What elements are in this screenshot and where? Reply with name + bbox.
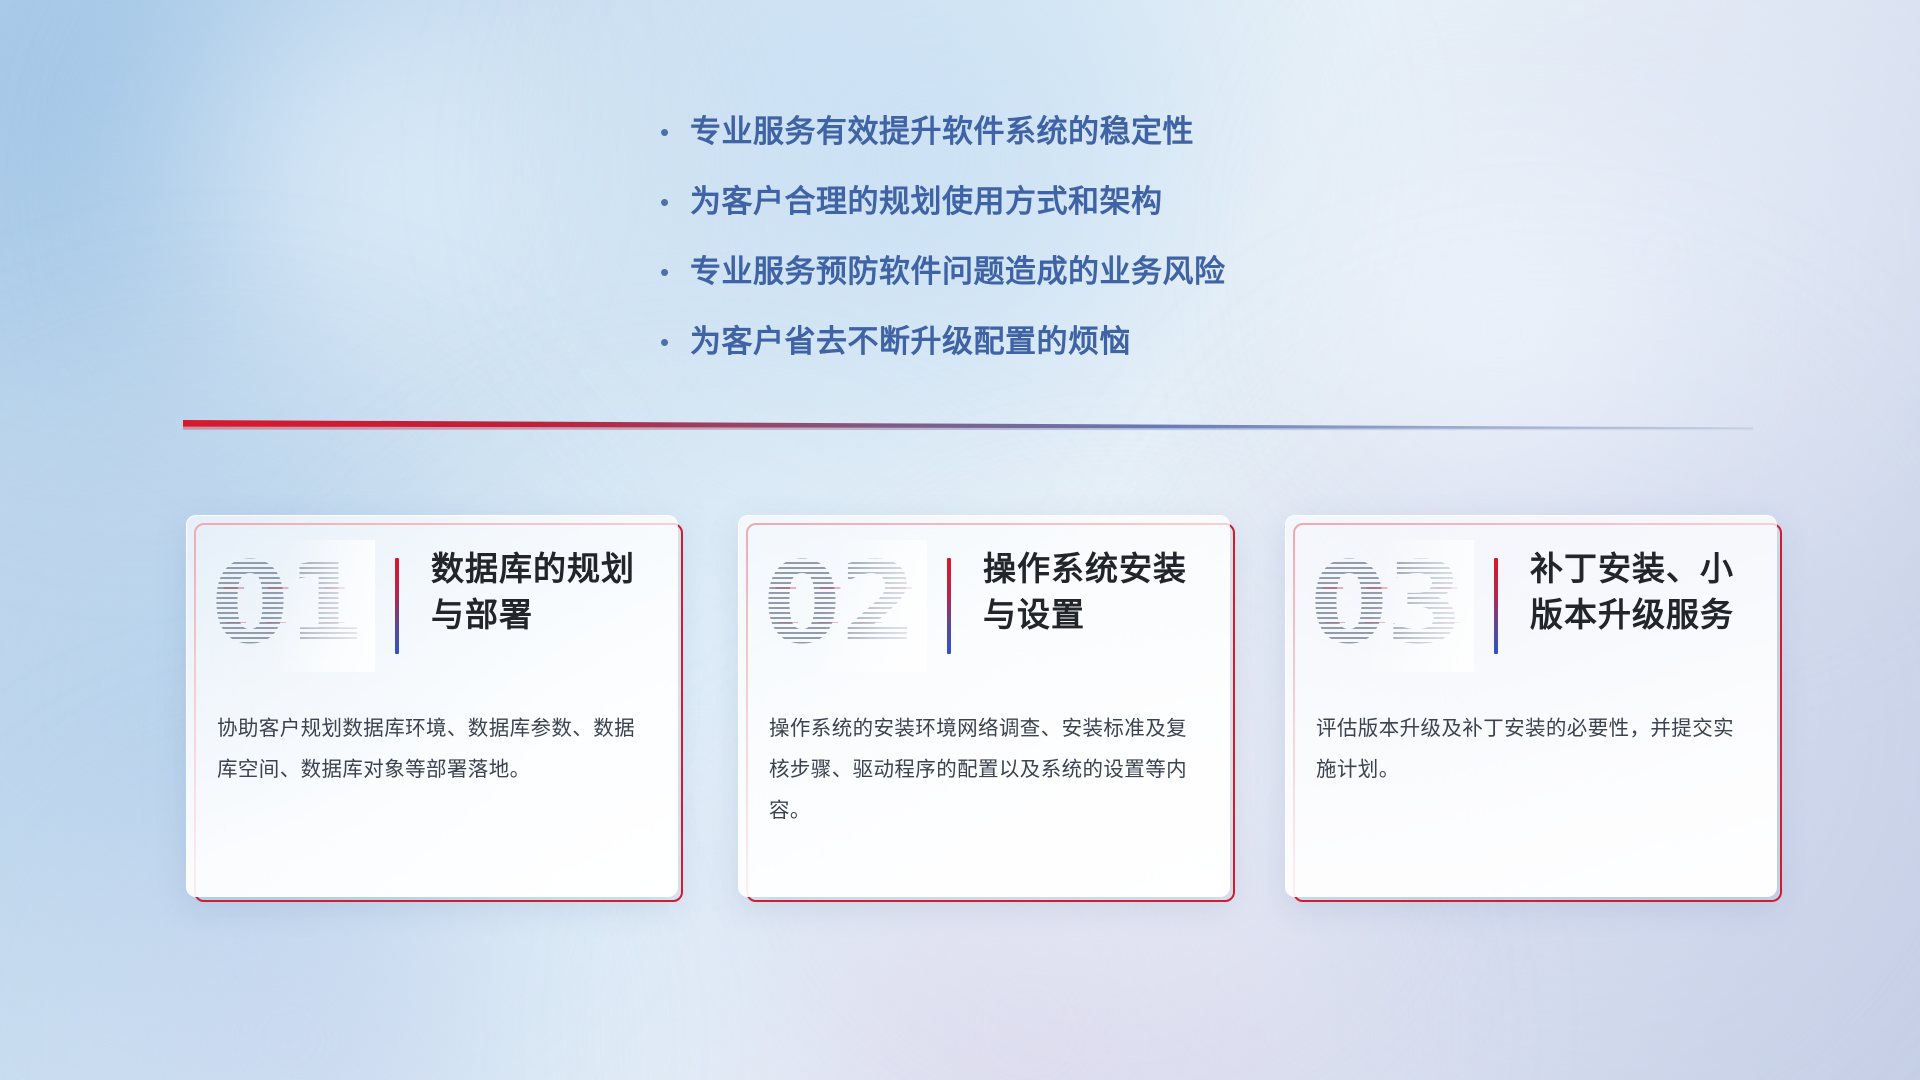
bullet-dot-icon: • <box>660 252 690 292</box>
service-card[interactable]: 02 操作系统安装 与设置 操作系统的安装环境网络调查、安装标准及复核步骤、驱动… <box>738 515 1230 897</box>
card-title: 数据库的规划 与部署 <box>431 546 661 638</box>
list-item: • 为客户合理的规划使用方式和架构 <box>660 182 1420 222</box>
card-number-watermark: 03 <box>1310 542 1460 666</box>
card-title-line-2: 版本升级服务 <box>1530 592 1760 638</box>
list-item: • 为客户省去不断升级配置的烦恼 <box>660 322 1420 362</box>
card-header: 02 操作系统安装 与设置 <box>739 544 1230 670</box>
card-title-line-1: 数据库的规划 <box>431 546 661 592</box>
benefits-bullet-list: • 专业服务有效提升软件系统的稳定性 • 为客户合理的规划使用方式和架构 • 专… <box>660 112 1420 392</box>
gradient-rule-icon <box>183 420 1753 434</box>
card-title-line-2: 与设置 <box>983 592 1213 638</box>
card-description: 协助客户规划数据库环境、数据库参数、数据库空间、数据库对象等部署落地。 <box>217 708 649 790</box>
title-divider-bar <box>1494 558 1498 654</box>
card-header: 01 数据库的规划 与部署 <box>187 544 678 670</box>
bullet-text: 专业服务有效提升软件系统的稳定性 <box>690 112 1194 152</box>
bullet-dot-icon: • <box>660 182 690 222</box>
bullet-text: 为客户合理的规划使用方式和架构 <box>690 182 1163 222</box>
bullet-dot-icon: • <box>660 112 690 152</box>
service-card[interactable]: 03 补丁安装、小 版本升级服务 评估版本升级及补丁安装的必要性，并提交实施计划… <box>1285 515 1777 897</box>
card-number-watermark: 02 <box>763 542 913 666</box>
title-divider-bar <box>947 558 951 654</box>
section-divider <box>183 420 1753 434</box>
card-title-line-1: 操作系统安装 <box>983 546 1213 592</box>
card-title: 补丁安装、小 版本升级服务 <box>1530 546 1760 638</box>
card-title-line-2: 与部署 <box>431 592 661 638</box>
card-surface: 01 数据库的规划 与部署 协助客户规划数据库环境、数据库参数、数据库空间、数据… <box>186 515 678 897</box>
service-card[interactable]: 01 数据库的规划 与部署 协助客户规划数据库环境、数据库参数、数据库空间、数据… <box>186 515 678 897</box>
card-description: 操作系统的安装环境网络调查、安装标准及复核步骤、驱动程序的配置以及系统的设置等内… <box>769 708 1201 831</box>
card-number-watermark: 01 <box>211 542 361 666</box>
card-surface: 02 操作系统安装 与设置 操作系统的安装环境网络调查、安装标准及复核步骤、驱动… <box>738 515 1230 897</box>
card-description: 评估版本升级及补丁安装的必要性，并提交实施计划。 <box>1316 708 1748 790</box>
card-title-line-1: 补丁安装、小 <box>1530 546 1760 592</box>
card-title: 操作系统安装 与设置 <box>983 546 1213 638</box>
card-surface: 03 补丁安装、小 版本升级服务 评估版本升级及补丁安装的必要性，并提交实施计划… <box>1285 515 1777 897</box>
bullet-text: 为客户省去不断升级配置的烦恼 <box>690 322 1131 362</box>
bullet-dot-icon: • <box>660 322 690 362</box>
card-header: 03 补丁安装、小 版本升级服务 <box>1286 544 1777 670</box>
title-divider-bar <box>395 558 399 654</box>
list-item: • 专业服务有效提升软件系统的稳定性 <box>660 112 1420 152</box>
bullet-text: 专业服务预防软件问题造成的业务风险 <box>690 252 1226 292</box>
list-item: • 专业服务预防软件问题造成的业务风险 <box>660 252 1420 292</box>
service-cards: 01 数据库的规划 与部署 协助客户规划数据库环境、数据库参数、数据库空间、数据… <box>0 515 1920 935</box>
